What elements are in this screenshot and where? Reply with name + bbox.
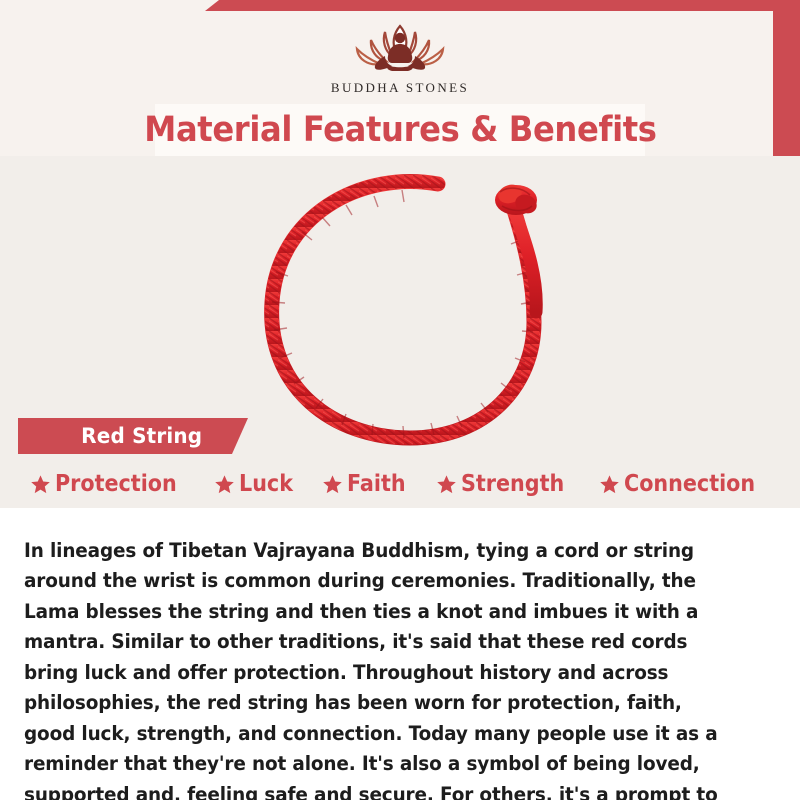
feature-item: Connection (599, 471, 770, 497)
star-icon (214, 474, 235, 495)
feature-list: Protection Luck Faith Strength Connectio… (30, 464, 770, 504)
description-panel: In lineages of Tibetan Vajrayana Buddhis… (0, 508, 800, 800)
top-red-band (205, 0, 800, 11)
feature-label: Faith (347, 471, 406, 497)
feature-item: Protection (30, 471, 190, 497)
material-ribbon: Red String (18, 418, 248, 454)
star-icon (436, 474, 457, 495)
feature-label: Connection (624, 471, 755, 497)
feature-item: Strength (436, 471, 576, 497)
product-image-area (0, 156, 800, 508)
feature-label: Luck (239, 471, 293, 497)
star-icon (322, 474, 343, 495)
brand-name: BUDDHA STONES (331, 80, 469, 96)
feature-item: Faith (322, 471, 412, 497)
feature-label: Protection (55, 471, 177, 497)
star-icon (599, 474, 620, 495)
description-text: In lineages of Tibetan Vajrayana Buddhis… (24, 536, 735, 800)
red-braided-string-bracelet (242, 162, 578, 454)
lotus-meditation-icon (330, 16, 470, 78)
star-icon (30, 474, 51, 495)
title-banner: Material Features & Benefits (155, 104, 645, 156)
feature-label: Strength (461, 471, 564, 497)
brand-logo: BUDDHA STONES (0, 16, 800, 102)
cord-knot (495, 182, 540, 217)
infographic-poster: BUDDHA STONES Material Features & Benefi… (0, 0, 800, 800)
page-title: Material Features & Benefits (144, 110, 656, 150)
material-label: Red String (81, 424, 202, 448)
feature-item: Luck (214, 471, 299, 497)
